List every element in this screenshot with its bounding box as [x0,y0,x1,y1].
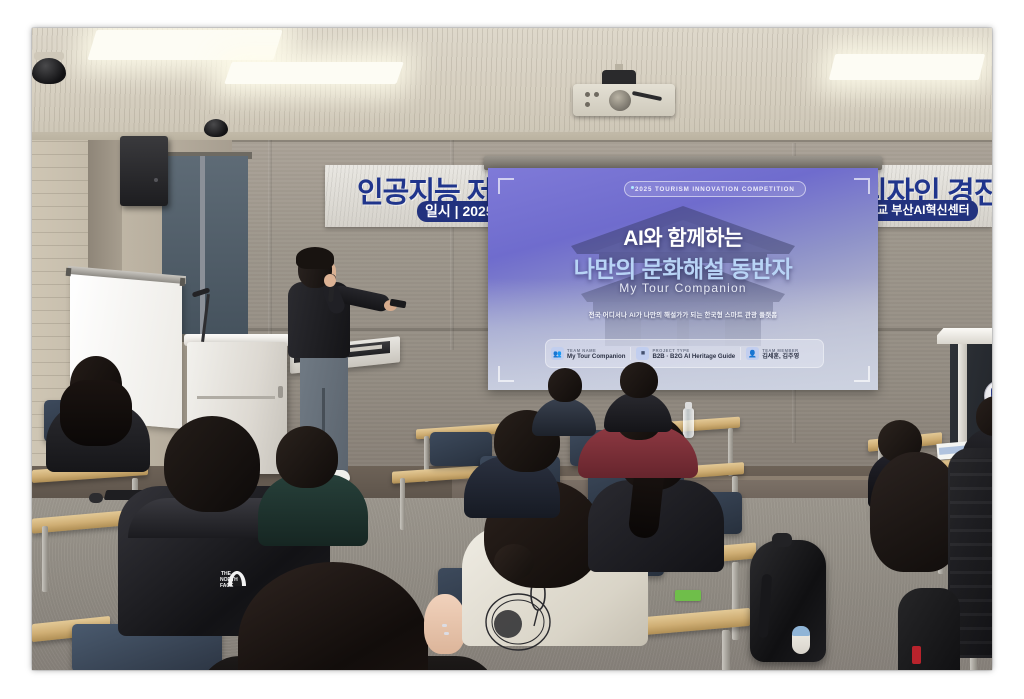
jacket-graphic-print-icon [484,576,568,656]
ring [444,632,449,635]
speaker-driver-icon [154,178,158,182]
projector-lens-icon [609,90,631,111]
projector-indicator [585,92,590,97]
wall-speaker [120,136,168,206]
projector-indicator [594,92,599,97]
desk-leg [400,478,405,530]
bottle-cap [685,402,692,409]
desk-leg [732,562,739,640]
slide-info-bar: 👥 TEAM NAME My Tour Companion ■ PROJECT … [545,339,824,368]
tag-icon: ■ [636,347,649,360]
backpack-handle [772,533,792,547]
presenter-left-hand [324,274,336,287]
slide-title-line2: 나만의 문화해설 동반자 [488,250,878,284]
audience-head [548,368,582,402]
audience-head [164,416,260,512]
backpack [898,588,960,670]
people-icon: 👥 [551,347,564,360]
presenter-hair [296,247,334,269]
slide-title-line1: AI와 함께하는 [488,222,878,252]
security-camera-icon [204,119,228,137]
audience-hair [60,380,132,446]
info-cell-project-type: ■ PROJECT TYPE B2B · B2G AI Heritage Gui… [631,347,740,360]
podium-seam [197,396,275,399]
audience-head [620,362,658,398]
flipchart-leg [180,278,186,286]
wall-seam [222,140,992,142]
desk-leg [722,630,730,670]
audience-head [276,426,338,488]
screen-corner-bracket [854,178,870,194]
projector-indicator [585,102,590,107]
info-label: TEAM MEMBER [762,348,799,353]
photo-frame: 인공지능 저변 일시 | 2025. 디자인 경진대 학교 부산AI혁신센터 2… [0,0,1024,699]
ceiling-light-panel [829,54,985,80]
person-icon: 👤 [746,347,759,360]
desk-leg [42,526,48,592]
security-camera-icon [32,58,66,84]
screen-corner-bracket [854,366,870,382]
hair-bun [494,544,534,580]
screen-corner-bracket [498,178,514,194]
screen-corner-bracket [498,366,514,382]
plush-keychain-hat [792,626,810,636]
slide-subtitle: My Tour Companion [488,281,878,295]
green-notebook [675,590,701,601]
info-value: 김세훈, 김주영 [762,353,799,360]
svg-text:FACE: FACE [220,583,234,589]
computer-mouse[interactable] [89,493,103,503]
info-value: My Tour Companion [567,353,625,360]
lecture-hall-photo: 인공지능 저변 일시 | 2025. 디자인 경진대 학교 부산AI혁신센터 2… [32,28,992,670]
podium-handle[interactable] [278,386,283,398]
slide-tagline: 전국 어디서나 AI가 나만의 해설가가 되는 한국형 스마트 관광 플랫폼 [488,310,878,319]
flipchart-leg [66,268,72,276]
info-value: B2B · B2G AI Heritage Guide [652,353,735,360]
ceiling-light-panel [87,30,282,60]
slide-badge: 2025 TOURISM INNOVATION COMPETITION [624,181,806,197]
badge-dot-icon [631,186,634,189]
info-cell-team-member: 👤 TEAM MEMBER 김세훈, 김주영 [741,347,823,360]
info-cell-team-name: 👥 TEAM NAME My Tour Companion [546,347,630,360]
secondary-podium-top [937,328,992,344]
backpack-tag [912,646,921,664]
north-face-logo-icon: THE NORTH FACE [220,569,254,589]
water-bottle [683,408,694,438]
ring [442,624,447,627]
ceiling-light-panel [224,62,404,84]
